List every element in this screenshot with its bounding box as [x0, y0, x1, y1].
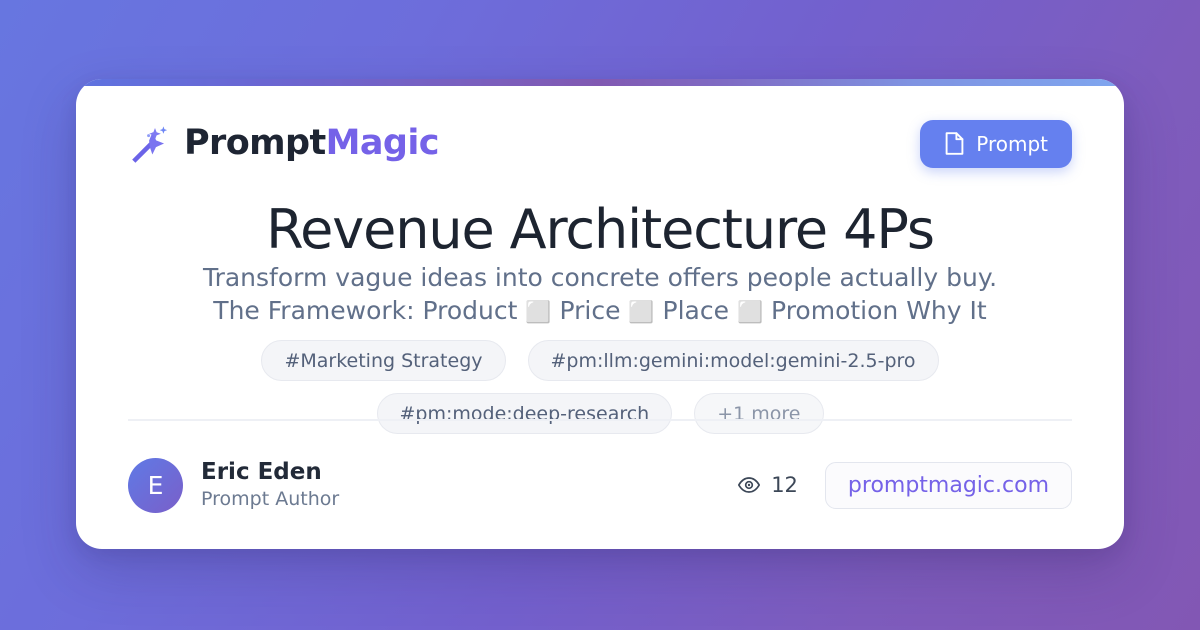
subtitle-segment-place: Place	[655, 296, 737, 325]
footer-right: 12 promptmagic.com	[737, 462, 1072, 509]
missing-glyph-icon-1: ⬜	[525, 300, 551, 324]
author-text: Eric Eden Prompt Author	[201, 460, 339, 509]
missing-glyph-icon-3: ⬜	[737, 300, 763, 324]
card-header: PromptMagic Prompt	[76, 86, 1124, 201]
prompt-button[interactable]: Prompt	[920, 120, 1072, 168]
site-link[interactable]: promptmagic.com	[825, 462, 1072, 509]
tag-item[interactable]: #pm:llm:gemini:model:gemini-2.5-pro	[528, 340, 939, 381]
page-subtitle: Transform vague ideas into concrete offe…	[116, 261, 1084, 327]
views-count: 12	[771, 473, 798, 497]
subtitle-segment-product: The Framework: Product	[213, 296, 525, 325]
card-footer: E Eric Eden Prompt Author 12 promptmagic…	[76, 421, 1124, 549]
subtitle-line-2: The Framework: Product ⬜ Price ⬜ Place ⬜…	[116, 294, 1084, 327]
avatar: E	[128, 458, 183, 513]
author-name: Eric Eden	[201, 460, 339, 485]
author-block: E Eric Eden Prompt Author	[128, 458, 339, 513]
tag-item[interactable]: #Marketing Strategy	[261, 340, 505, 381]
brand-name-prompt: Prompt	[184, 123, 326, 163]
missing-glyph-icon-2: ⬜	[628, 300, 654, 324]
share-card: PromptMagic Prompt Revenue Architecture …	[76, 79, 1124, 549]
subtitle-line-1: Transform vague ideas into concrete offe…	[116, 261, 1084, 294]
author-role: Prompt Author	[201, 489, 339, 510]
magic-wand-icon	[128, 123, 170, 165]
prompt-button-label: Prompt	[976, 132, 1048, 156]
accent-bar	[76, 79, 1124, 86]
brand-logo: PromptMagic	[128, 123, 439, 165]
file-document-icon	[944, 132, 965, 155]
views-counter: 12	[737, 473, 798, 497]
brand-name: PromptMagic	[184, 126, 439, 161]
card-body: Revenue Architecture 4Ps Transform vague…	[76, 201, 1124, 434]
brand-name-magic: Magic	[326, 123, 439, 163]
page-title: Revenue Architecture 4Ps	[116, 201, 1084, 259]
eye-icon	[737, 473, 761, 497]
subtitle-segment-promotion: Promotion Why It	[763, 296, 987, 325]
subtitle-segment-price: Price	[552, 296, 629, 325]
